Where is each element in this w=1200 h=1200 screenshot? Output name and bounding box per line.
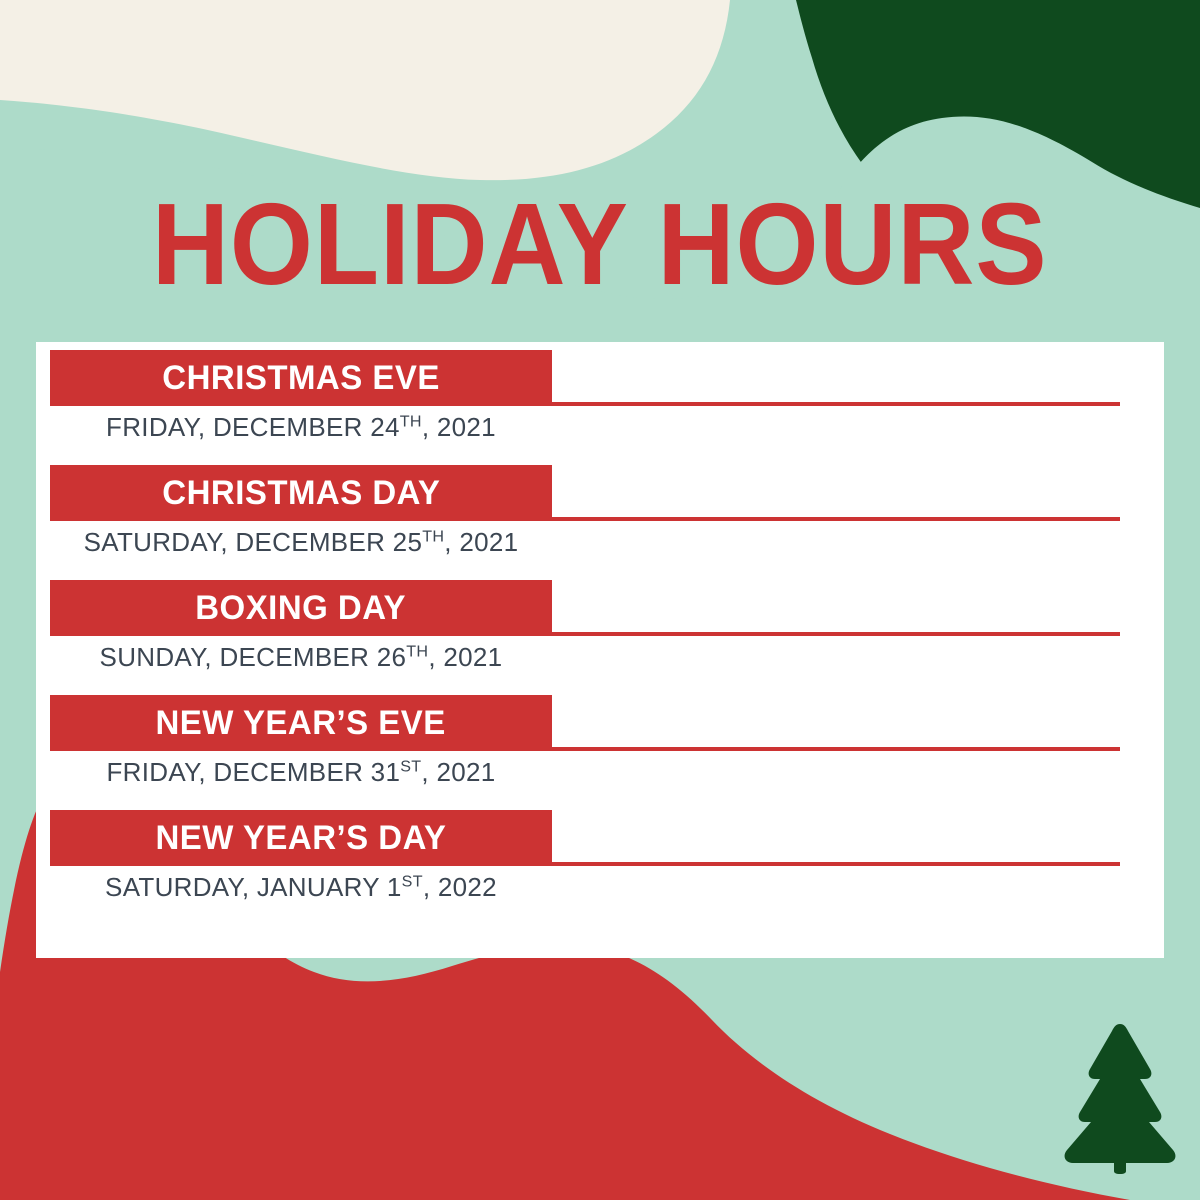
holiday-date-ordinal: TH — [406, 642, 428, 660]
holiday-date-weekday: SATURDAY, JANUARY 1 — [105, 872, 402, 902]
holiday-date: FRIDAY, DECEMBER 24TH, 2021 — [50, 414, 552, 440]
holiday-banner: CHRISTMAS DAY — [50, 465, 552, 521]
holiday-date: SATURDAY, DECEMBER 25TH, 2021 — [50, 529, 552, 555]
holiday-date-weekday: FRIDAY, DECEMBER 31 — [107, 757, 401, 787]
christmas-tree-icon — [1056, 1022, 1184, 1174]
holiday-date-ordinal: TH — [400, 412, 422, 430]
holiday-banner: NEW YEAR’S DAY — [50, 810, 552, 866]
holiday-date-ordinal: ST — [400, 757, 421, 775]
page-title: HOLIDAY HOURS — [152, 186, 1048, 302]
hours-list: CHRISTMAS EVE FRIDAY, DECEMBER 24TH, 202… — [36, 342, 1164, 958]
holiday-banner: BOXING DAY — [50, 580, 552, 636]
holiday-date-ordinal: ST — [402, 872, 423, 890]
holiday-date-weekday: SATURDAY, DECEMBER 25 — [84, 527, 423, 557]
holiday-banner: CHRISTMAS EVE — [50, 350, 552, 406]
holiday-date-year: , 2022 — [423, 872, 497, 902]
holiday-row: NEW YEAR’S EVE FRIDAY, DECEMBER 31ST, 20… — [36, 687, 1164, 802]
holiday-banner: NEW YEAR’S EVE — [50, 695, 552, 751]
holiday-date: SATURDAY, JANUARY 1ST, 2022 — [50, 874, 552, 900]
holiday-date: FRIDAY, DECEMBER 31ST, 2021 — [50, 759, 552, 785]
holiday-row: CHRISTMAS EVE FRIDAY, DECEMBER 24TH, 202… — [36, 342, 1164, 457]
holiday-row: CHRISTMAS DAY SATURDAY, DECEMBER 25TH, 2… — [36, 457, 1164, 572]
holiday-name: BOXING DAY — [196, 591, 407, 625]
holiday-row: NEW YEAR’S DAY SATURDAY, JANUARY 1ST, 20… — [36, 802, 1164, 923]
page-title-container: HOLIDAY HOURS — [0, 186, 1200, 302]
holiday-date-year: , 2021 — [444, 527, 518, 557]
holiday-date-year: , 2021 — [421, 757, 495, 787]
holiday-name: NEW YEAR’S EVE — [156, 706, 446, 740]
hours-card: CHRISTMAS EVE FRIDAY, DECEMBER 24TH, 202… — [36, 342, 1164, 958]
holiday-date-year: , 2021 — [428, 642, 502, 672]
holiday-date-weekday: FRIDAY, DECEMBER 24 — [106, 412, 400, 442]
holiday-name: NEW YEAR’S DAY — [156, 821, 447, 855]
holiday-date-ordinal: TH — [422, 527, 444, 545]
holiday-row: BOXING DAY SUNDAY, DECEMBER 26TH, 2021 — [36, 572, 1164, 687]
holiday-date-weekday: SUNDAY, DECEMBER 26 — [100, 642, 407, 672]
holiday-date-year: , 2021 — [422, 412, 496, 442]
holiday-name: CHRISTMAS EVE — [162, 361, 440, 395]
holiday-name: CHRISTMAS DAY — [162, 476, 440, 510]
holiday-date: SUNDAY, DECEMBER 26TH, 2021 — [50, 644, 552, 670]
holiday-hours-poster: HOLIDAY HOURS CHRISTMAS EVE FRIDAY, DECE… — [0, 0, 1200, 1200]
